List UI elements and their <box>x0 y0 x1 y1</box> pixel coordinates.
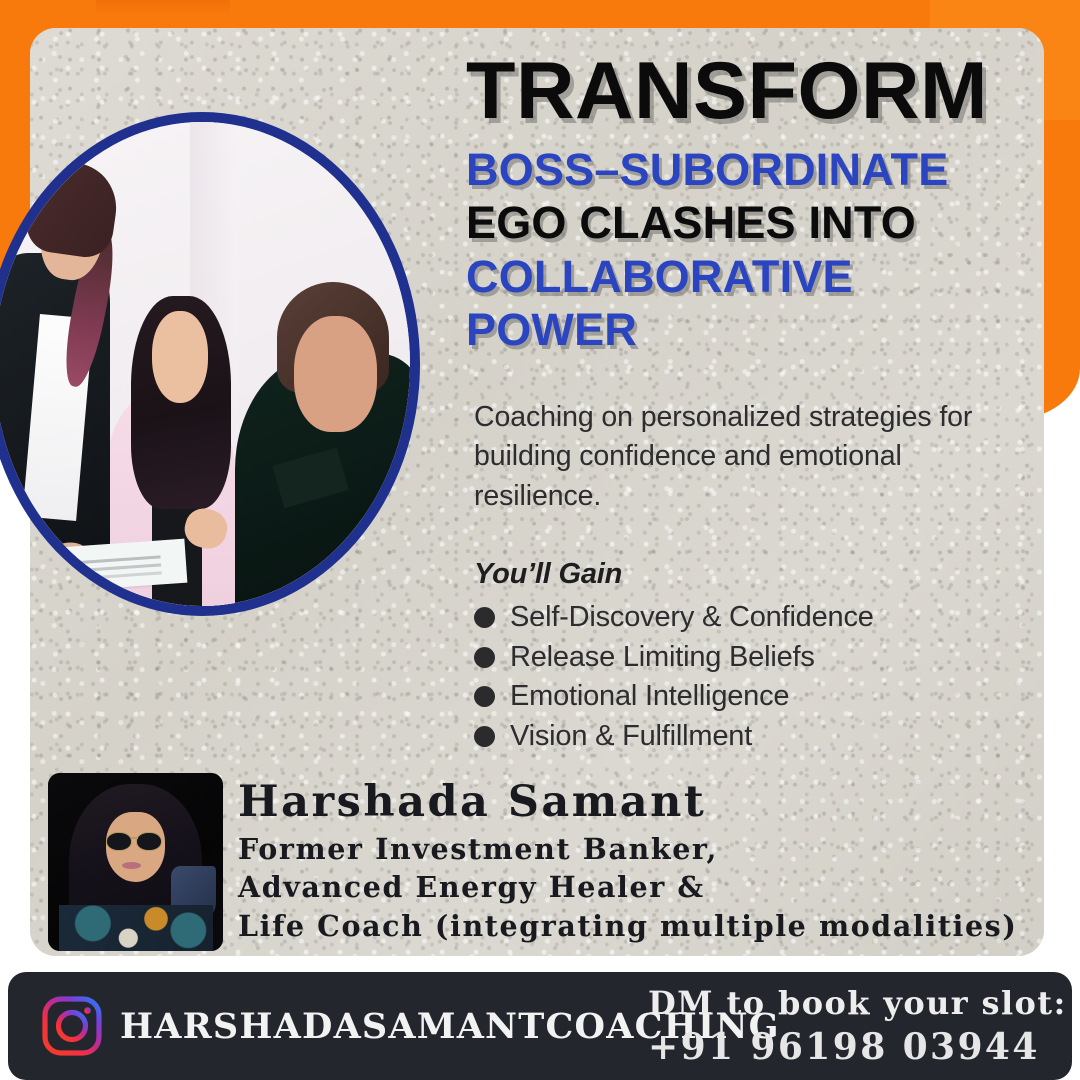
bullet-dot-icon <box>474 726 495 747</box>
subheadline-text: Coaching on personalized strategies for … <box>474 398 1029 516</box>
bullet-dot-icon <box>474 686 495 707</box>
sunglasses-left-lens-icon <box>106 832 132 852</box>
bullet-dot-icon <box>474 607 495 628</box>
list-item: Release Limiting Beliefs <box>474 638 1034 678</box>
headline-line-4: COLLABORATIVE POWER <box>466 250 1026 356</box>
sunglasses-right-lens-icon <box>136 832 162 852</box>
list-item-label: Vision & Fulfillment <box>510 720 752 753</box>
presenter-name: Harshada Samant <box>238 780 1038 826</box>
cta-phone-number[interactable]: +91 96198 03944 <box>648 1026 1067 1068</box>
headline-line-2: BOSS–SUBORDINATE <box>466 143 1026 196</box>
headshot-patterned-top <box>59 905 213 951</box>
document-on-table <box>59 539 187 591</box>
cta-block: DM to book your slot: +91 96198 03944 <box>648 972 1067 1080</box>
presenter-role-line-3: Life Coach (integrating multiple modalit… <box>238 907 1038 946</box>
presenter-role: Former Investment Banker, Advanced Energ… <box>238 830 1038 946</box>
list-item-label: Release Limiting Beliefs <box>510 641 815 674</box>
hero-photo-circle <box>0 112 420 616</box>
headline-line-1: TRANSFORM <box>466 52 1026 131</box>
bullet-dot-icon <box>474 647 495 668</box>
presenter-details: Harshada Samant Former Investment Banker… <box>238 780 1038 946</box>
headline-line-3: EGO CLASHES INTO <box>466 196 1026 249</box>
instagram-icon[interactable] <box>40 994 104 1058</box>
person-man-head <box>294 316 377 432</box>
list-item-label: Self-Discovery & Confidence <box>510 601 874 634</box>
list-item-label: Emotional Intelligence <box>510 680 789 713</box>
presenter-role-line-1: Former Investment Banker, <box>238 830 1038 869</box>
list-item: Vision & Fulfillment <box>474 717 1034 757</box>
footer-bar: HARSHADASAMANTCOACHING DM to book your s… <box>8 972 1072 1080</box>
cta-text: DM to book your slot: <box>648 984 1067 1022</box>
list-item: Self-Discovery & Confidence <box>474 598 1034 638</box>
presenter-headshot <box>48 773 223 951</box>
sunglasses-bridge <box>131 837 138 839</box>
presenter-role-line-2: Advanced Energy Healer & <box>238 868 1038 907</box>
headline-block: TRANSFORM BOSS–SUBORDINATE EGO CLASHES I… <box>466 52 1026 356</box>
person-seated-woman-face <box>154 316 206 398</box>
gain-benefits-list: Self-Discovery & Confidence Release Limi… <box>474 598 1034 756</box>
headshot-lips <box>122 862 141 869</box>
gain-section-title: You’ll Gain <box>474 558 622 591</box>
list-item: Emotional Intelligence <box>474 677 1034 717</box>
meeting-photo <box>0 122 410 606</box>
